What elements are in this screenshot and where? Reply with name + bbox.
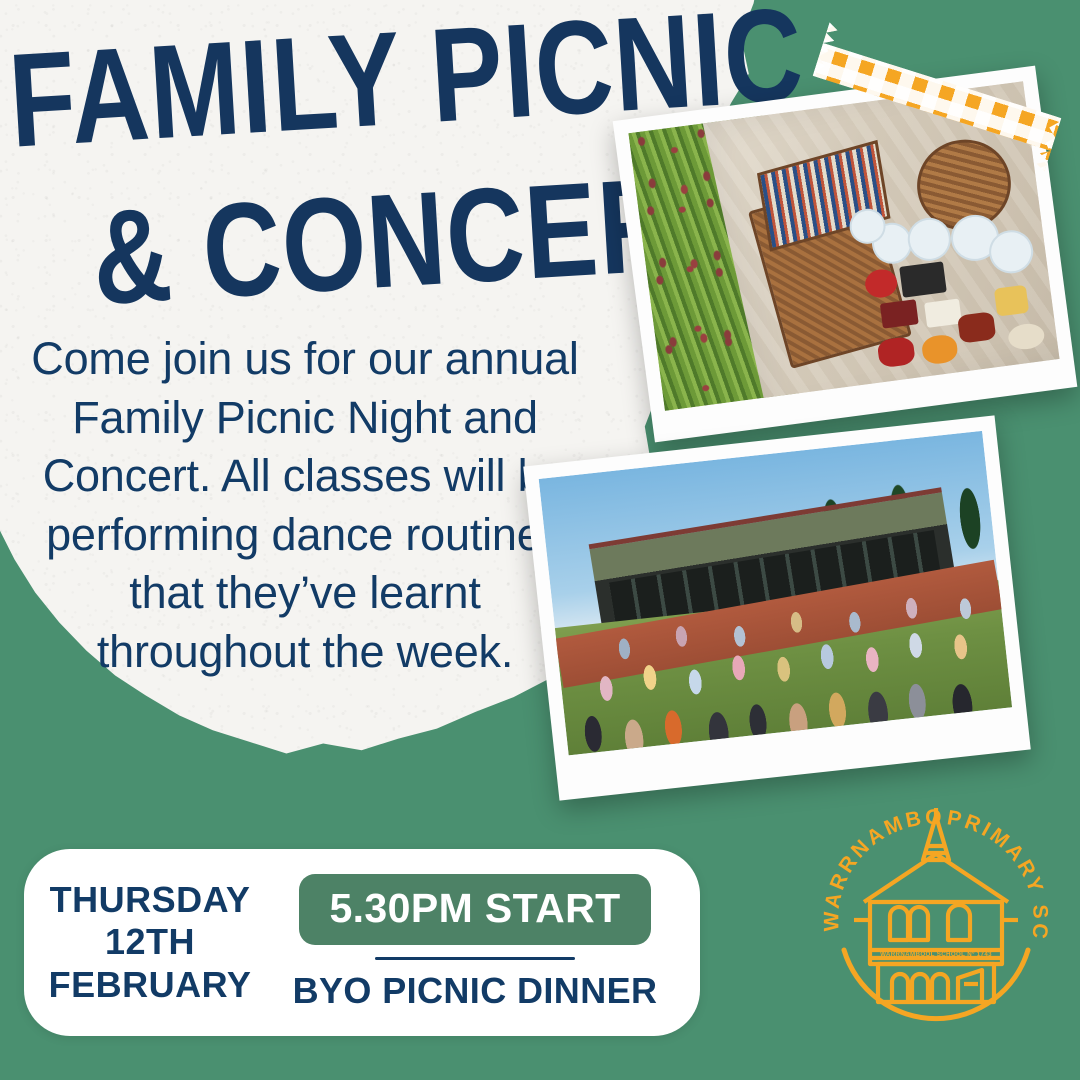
date-line-2: 12TH [24, 921, 276, 963]
event-time-details: 5.30PM START BYO PICNIC DINNER [276, 874, 700, 1012]
date-line-3: FEBRUARY [24, 964, 276, 1006]
juice-bottle [994, 284, 1029, 316]
byo-note: BYO PICNIC DINNER [276, 970, 674, 1012]
school-concert-photo [523, 415, 1031, 800]
logo-plaque-text: WARRNAMBOOL SCHOOL Nº 1743 [880, 951, 992, 958]
school-logo-icon: WARRNAMBOOL PRIMARY SCHOOL [818, 798, 1054, 1034]
divider-line [375, 957, 575, 960]
date-line-1: THURSDAY [24, 879, 276, 921]
cheese-box [924, 299, 963, 329]
poster-canvas: FAMILY PICNIC & CONCERT Come join us for… [0, 0, 1080, 1080]
start-time-badge: 5.30PM START [299, 874, 650, 945]
event-date: THURSDAY 12TH FEBRUARY [24, 879, 276, 1006]
event-details-card: THURSDAY 12TH FEBRUARY 5.30PM START BYO … [24, 849, 700, 1036]
concert-photo-frame [539, 431, 1012, 756]
bread-tray [880, 299, 919, 329]
body-paragraph: Come join us for our annual Family Picni… [20, 330, 590, 681]
sandwich-box [899, 261, 946, 297]
school-logo: WARRNAMBOOL PRIMARY SCHOOL [818, 798, 1054, 1034]
